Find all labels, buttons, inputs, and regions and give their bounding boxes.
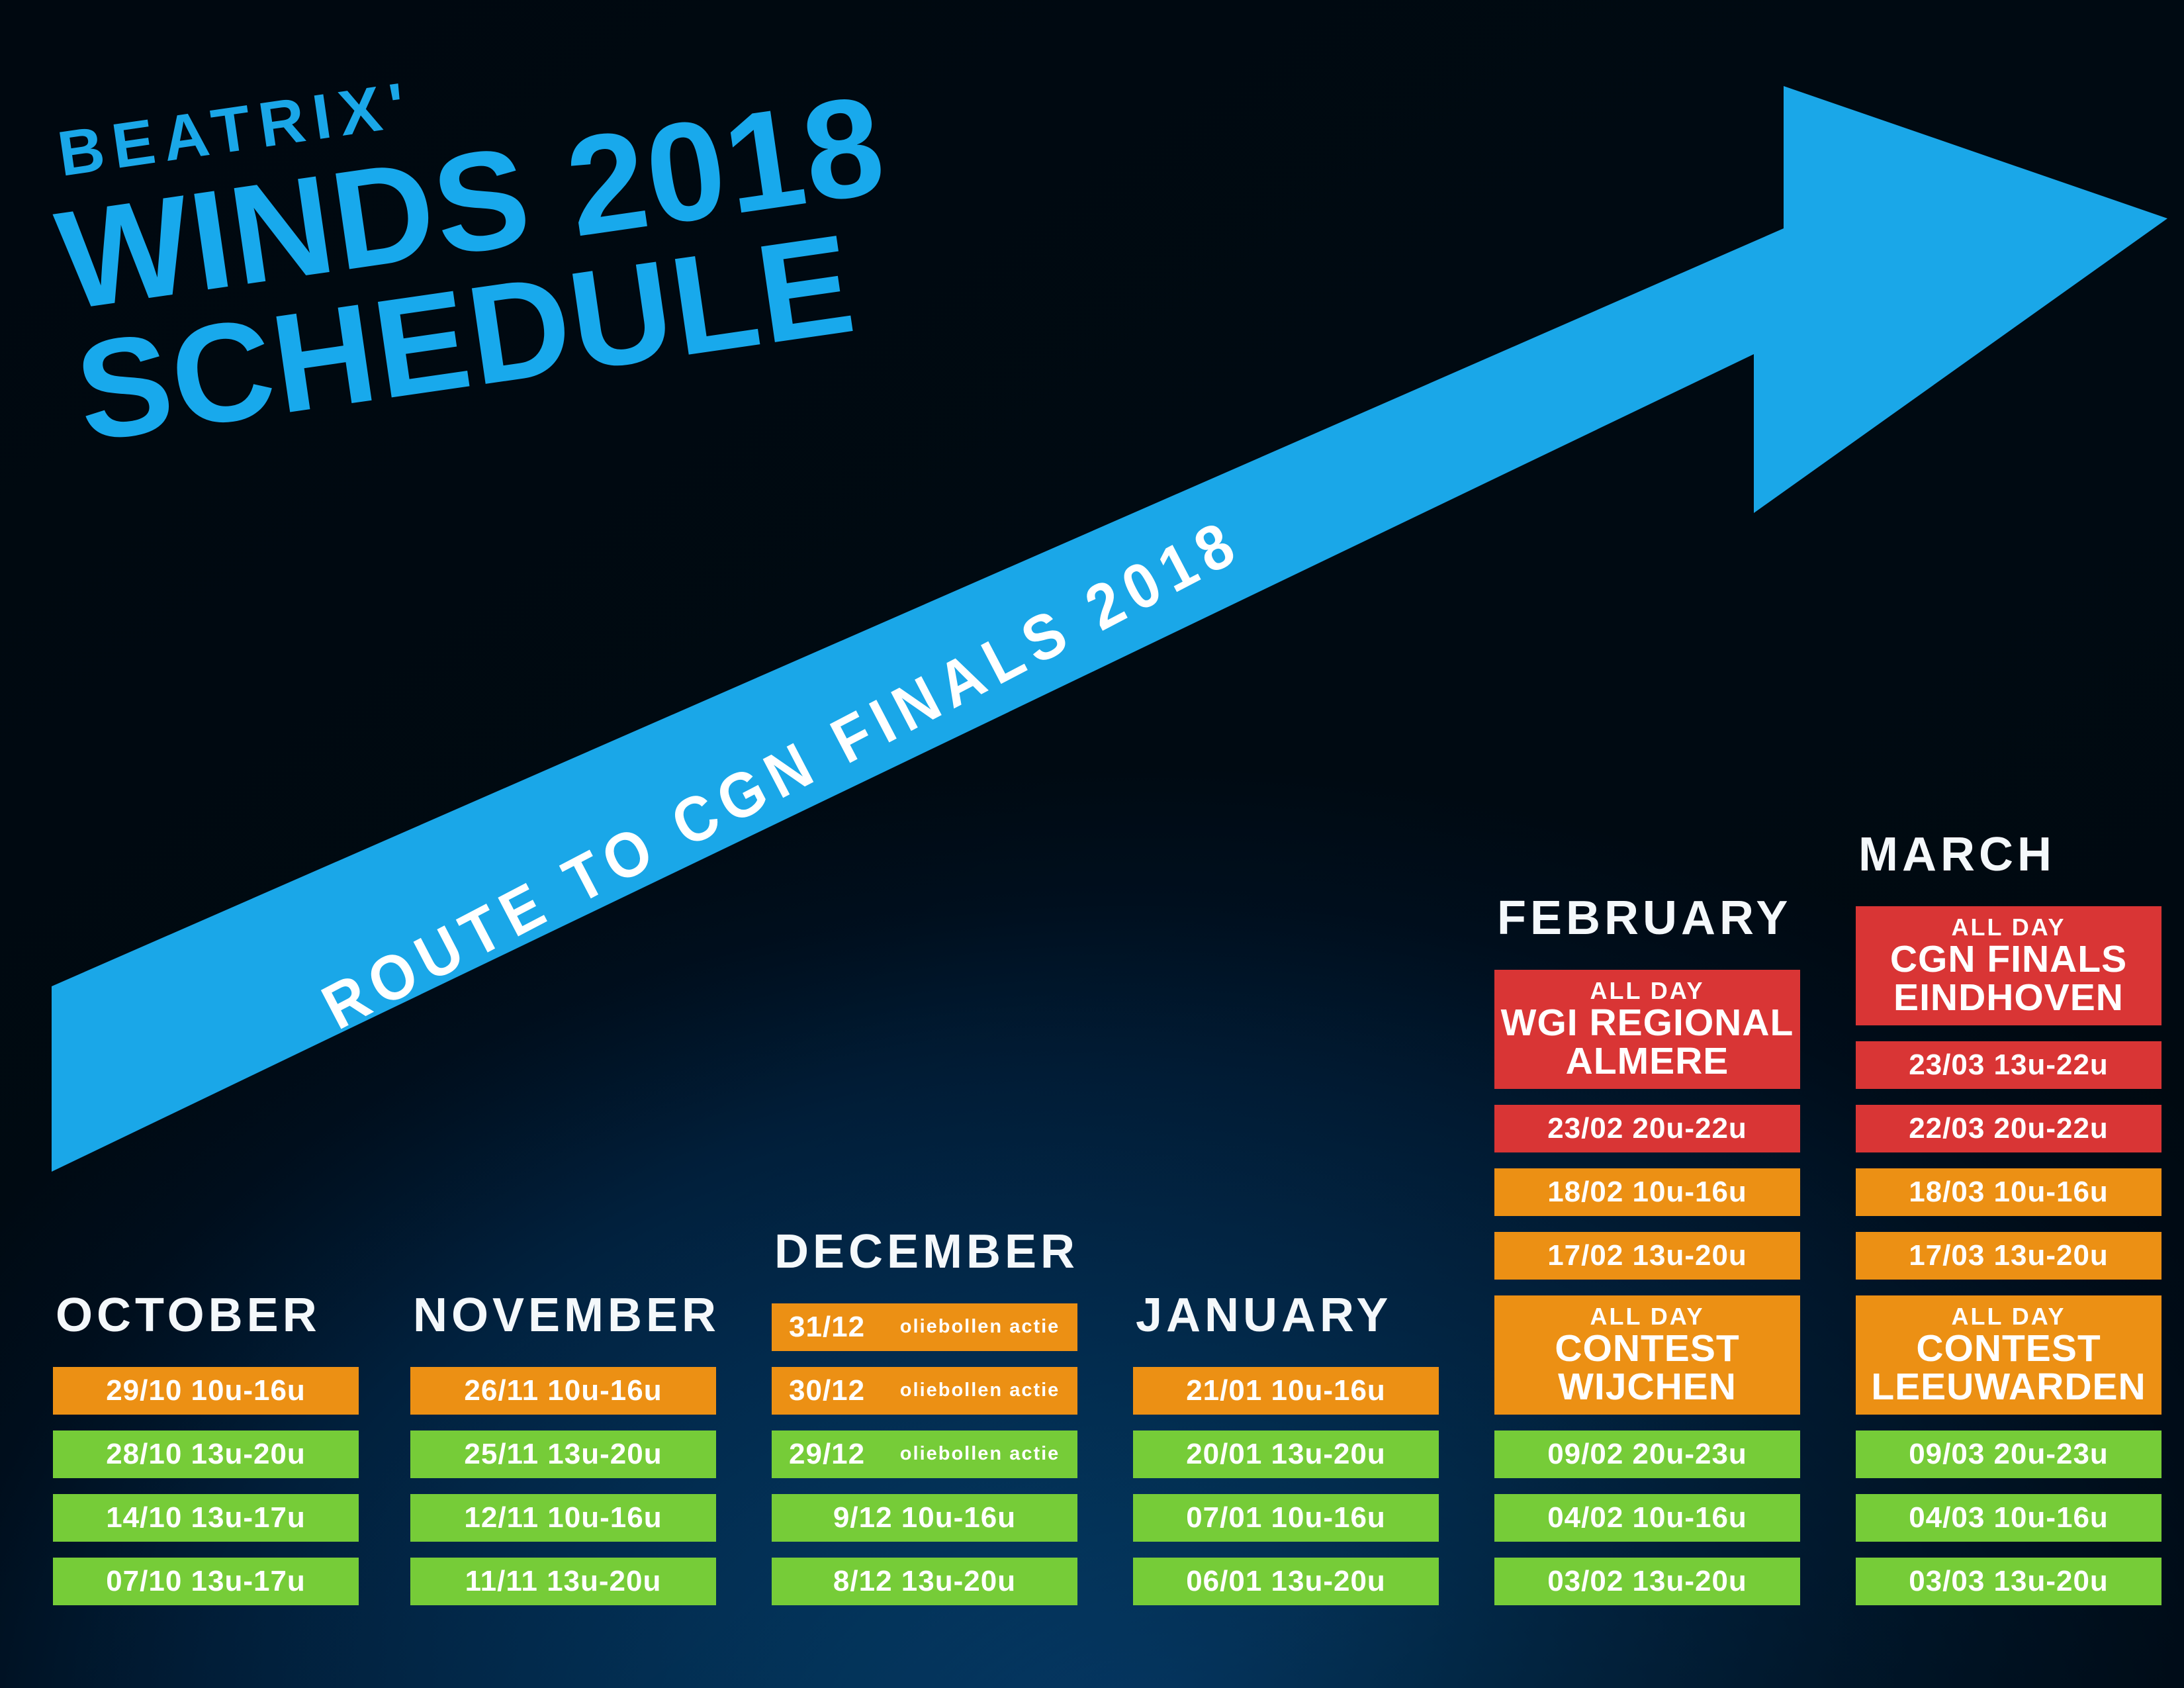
schedule-card[interactable]: 22/03 20u-22u — [1856, 1105, 2161, 1152]
schedule-card[interactable]: ALL DAYCONTEST LEEUWARDEN — [1856, 1295, 2161, 1415]
schedule-card[interactable]: 9/12 10u-16u — [772, 1494, 1077, 1542]
schedule-card[interactable]: ALL DAYWGI REGIONAL ALMERE — [1494, 970, 1800, 1089]
month-label: OCTOBER — [56, 1291, 359, 1339]
schedule-card[interactable]: 17/03 13u-20u — [1856, 1232, 2161, 1280]
card-text: 23/03 13u-22u — [1909, 1049, 2109, 1082]
month-label: MARCH — [1858, 831, 2161, 878]
card-event-name: CONTEST LEEUWARDEN — [1861, 1329, 2156, 1406]
card-text: 09/03 20u-23u — [1909, 1438, 2109, 1471]
schedule-poster: ROUTE TO CGN FINALS 2018 BEATRIX' WINDS … — [0, 0, 2184, 1688]
schedule-card[interactable]: 30/12oliebollen actie — [772, 1367, 1077, 1415]
card-text: 11/11 13u-20u — [465, 1565, 662, 1598]
schedule-card[interactable]: 17/02 13u-20u — [1494, 1232, 1800, 1280]
card-note: oliebollen actie — [882, 1444, 1077, 1464]
card-event-name: WGI REGIONAL ALMERE — [1500, 1004, 1795, 1080]
card-text: 22/03 20u-22u — [1909, 1112, 2109, 1145]
card-text: 29/10 10u-16u — [106, 1374, 306, 1407]
card-note: oliebollen actie — [882, 1317, 1077, 1337]
schedule-card[interactable]: 03/03 13u-20u — [1856, 1558, 2161, 1605]
card-all-day-label: ALL DAY — [1590, 1304, 1704, 1329]
card-note: oliebollen actie — [882, 1380, 1077, 1401]
month-label: FEBRUARY — [1497, 894, 1800, 942]
card-all-day-label: ALL DAY — [1951, 1304, 2066, 1329]
schedule-card[interactable]: 25/11 13u-20u — [410, 1430, 716, 1478]
card-all-day-label: ALL DAY — [1951, 915, 2066, 940]
schedule-card[interactable]: 04/03 10u-16u — [1856, 1494, 2161, 1542]
month-column-october: OCTOBER29/10 10u-16u28/10 13u-20u14/10 1… — [53, 1291, 359, 1605]
schedule-card[interactable]: 29/12oliebollen actie — [772, 1430, 1077, 1478]
schedule-card[interactable]: 23/02 20u-22u — [1494, 1105, 1800, 1152]
schedule-card[interactable]: 20/01 13u-20u — [1133, 1430, 1439, 1478]
schedule-card[interactable]: 14/10 13u-17u — [53, 1494, 359, 1542]
month-column-february: FEBRUARYALL DAYWGI REGIONAL ALMERE23/02 … — [1494, 894, 1800, 1605]
card-text: 26/11 10u-16u — [464, 1374, 662, 1407]
card-text: 25/11 13u-20u — [464, 1438, 662, 1471]
month-label: DECEMBER — [774, 1228, 1077, 1276]
card-text: 07/10 13u-17u — [106, 1565, 306, 1598]
month-columns: OCTOBER29/10 10u-16u28/10 13u-20u14/10 1… — [0, 0, 2184, 1688]
schedule-card[interactable]: ALL DAYCGN FINALS EINDHOVEN — [1856, 906, 2161, 1025]
schedule-card[interactable]: 29/10 10u-16u — [53, 1367, 359, 1415]
schedule-card[interactable]: 21/01 10u-16u — [1133, 1367, 1439, 1415]
month-label: NOVEMBER — [413, 1291, 716, 1339]
schedule-card[interactable]: 09/02 20u-23u — [1494, 1430, 1800, 1478]
card-text: 06/01 13u-20u — [1186, 1565, 1386, 1598]
schedule-card[interactable]: 18/02 10u-16u — [1494, 1168, 1800, 1216]
month-column-march: MARCHALL DAYCGN FINALS EINDHOVEN23/03 13… — [1856, 831, 2161, 1605]
card-text: 9/12 10u-16u — [833, 1501, 1016, 1534]
card-text: 20/01 13u-20u — [1186, 1438, 1386, 1471]
card-text: 18/03 10u-16u — [1909, 1176, 2109, 1209]
card-text: 23/02 20u-22u — [1547, 1112, 1747, 1145]
month-label: JANUARY — [1136, 1291, 1439, 1339]
card-event-name: CONTEST WIJCHEN — [1500, 1329, 1795, 1406]
schedule-card[interactable]: 26/11 10u-16u — [410, 1367, 716, 1415]
card-date: 29/12 — [789, 1438, 865, 1471]
card-text: 28/10 13u-20u — [106, 1438, 306, 1471]
card-text: 14/10 13u-17u — [106, 1501, 306, 1534]
card-text: 09/02 20u-23u — [1547, 1438, 1747, 1471]
schedule-card[interactable]: 07/01 10u-16u — [1133, 1494, 1439, 1542]
schedule-card[interactable]: ALL DAYCONTEST WIJCHEN — [1494, 1295, 1800, 1415]
schedule-card[interactable]: 09/03 20u-23u — [1856, 1430, 2161, 1478]
schedule-card[interactable]: 18/03 10u-16u — [1856, 1168, 2161, 1216]
schedule-card[interactable]: 12/11 10u-16u — [410, 1494, 716, 1542]
schedule-card[interactable]: 23/03 13u-22u — [1856, 1041, 2161, 1089]
card-text: 04/02 10u-16u — [1547, 1501, 1747, 1534]
schedule-card[interactable]: 06/01 13u-20u — [1133, 1558, 1439, 1605]
card-text: 03/03 13u-20u — [1909, 1565, 2109, 1598]
schedule-card[interactable]: 11/11 13u-20u — [410, 1558, 716, 1605]
month-column-january: JANUARY21/01 10u-16u20/01 13u-20u07/01 1… — [1133, 1291, 1439, 1605]
card-all-day-label: ALL DAY — [1590, 978, 1704, 1004]
card-date: 30/12 — [789, 1374, 865, 1407]
card-event-name: CGN FINALS EINDHOVEN — [1861, 940, 2156, 1017]
card-text: 17/02 13u-20u — [1547, 1239, 1747, 1272]
schedule-card[interactable]: 07/10 13u-17u — [53, 1558, 359, 1605]
card-date: 31/12 — [789, 1311, 865, 1344]
month-column-november: NOVEMBER26/11 10u-16u25/11 13u-20u12/11 … — [410, 1291, 716, 1605]
card-text: 17/03 13u-20u — [1909, 1239, 2109, 1272]
card-text: 03/02 13u-20u — [1547, 1565, 1747, 1598]
schedule-card[interactable]: 03/02 13u-20u — [1494, 1558, 1800, 1605]
card-text: 07/01 10u-16u — [1186, 1501, 1386, 1534]
month-column-december: DECEMBER31/12oliebollen actie30/12oliebo… — [772, 1228, 1077, 1605]
schedule-card[interactable]: 8/12 13u-20u — [772, 1558, 1077, 1605]
card-text: 18/02 10u-16u — [1547, 1176, 1747, 1209]
schedule-card[interactable]: 31/12oliebollen actie — [772, 1303, 1077, 1351]
card-text: 04/03 10u-16u — [1909, 1501, 2109, 1534]
card-text: 8/12 13u-20u — [833, 1565, 1016, 1598]
card-text: 12/11 10u-16u — [464, 1501, 662, 1534]
card-text: 21/01 10u-16u — [1186, 1374, 1386, 1407]
schedule-card[interactable]: 04/02 10u-16u — [1494, 1494, 1800, 1542]
schedule-card[interactable]: 28/10 13u-20u — [53, 1430, 359, 1478]
